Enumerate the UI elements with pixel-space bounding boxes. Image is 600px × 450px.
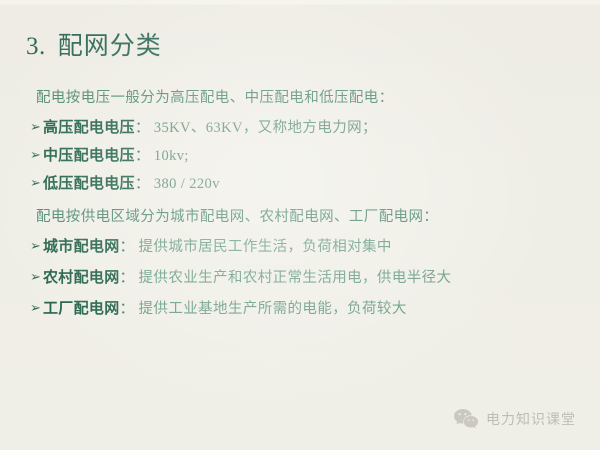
title-text: 配网分类	[58, 26, 162, 62]
bullet-colon: ：	[120, 297, 139, 318]
list-item: ➢ 中压配电电压 ： 10kv;	[30, 142, 580, 167]
bullet-colon: ：	[120, 266, 139, 287]
slide-canvas: 3. 配网分类 配电按电压一般分为高压配电、中压配电和低压配电： ➢ 高压配电电…	[0, 0, 600, 450]
arrow-bullet-icon: ➢	[30, 239, 43, 252]
bullet-label: 工厂配电网	[43, 297, 120, 318]
arrow-bullet-icon: ➢	[30, 148, 43, 161]
arrow-bullet-icon: ➢	[30, 176, 43, 189]
bullet-label: 农村配电网	[43, 266, 120, 287]
bullet-label: 城市配电网	[43, 235, 120, 256]
arrow-bullet-icon: ➢	[30, 270, 43, 283]
bullet-label: 高压配电电压	[43, 116, 135, 137]
section-by-area: 配电按供电区域分为城市配电网、农村配电网、工厂配电网： ➢ 城市配电网 ： 提供…	[30, 207, 580, 320]
list-item: ➢ 城市配电网 ： 提供城市居民工作生活，负荷相对集中	[30, 233, 580, 258]
list-item: ➢ 农村配电网 ： 提供农业生产和农村正常生活用电，供电半径大	[30, 264, 580, 289]
arrow-bullet-icon: ➢	[30, 301, 43, 314]
bullet-colon: ：	[135, 144, 154, 165]
bullet-label: 低压配电电压	[43, 172, 135, 193]
wechat-logo-icon	[453, 408, 479, 430]
section-by-voltage: 配电按电压一般分为高压配电、中压配电和低压配电： ➢ 高压配电电压 ： 35KV…	[30, 88, 580, 195]
watermark: 电力知识课堂	[453, 408, 576, 430]
bullet-value: 10kv;	[154, 148, 189, 165]
bullet-list-voltage: ➢ 高压配电电压 ： 35KV、63KV，又称地方电力网； ➢ 中压配电电压 ：…	[30, 114, 580, 195]
section-lead-text: 配电按电压一般分为高压配电、中压配电和低压配电：	[36, 88, 580, 110]
bullet-description: 提供农业生产和农村正常生活用电，供电半径大	[139, 266, 452, 287]
bullet-colon: ：	[135, 116, 154, 137]
bullet-value: 35KV、63KV，又称地方电力网；	[154, 116, 377, 137]
bullet-list-area: ➢ 城市配电网 ： 提供城市居民工作生活，负荷相对集中 ➢ 农村配电网 ： 提供…	[30, 233, 580, 320]
title-number: 3.	[26, 33, 46, 61]
watermark-text: 电力知识课堂	[486, 409, 576, 429]
bullet-description: 提供城市居民工作生活，负荷相对集中	[139, 235, 392, 256]
list-item: ➢ 高压配电电压 ： 35KV、63KV，又称地方电力网；	[30, 114, 580, 139]
slide-body: 配电按电压一般分为高压配电、中压配电和低压配电： ➢ 高压配电电压 ： 35KV…	[30, 88, 580, 326]
section-lead-text: 配电按供电区域分为城市配电网、农村配电网、工厂配电网：	[36, 207, 580, 229]
list-item: ➢ 工厂配电网 ： 提供工业基地生产所需的电能，负荷较大	[30, 295, 580, 320]
list-item: ➢ 低压配电电压 ： 380 / 220v	[30, 170, 580, 195]
bullet-value: 380 / 220v	[154, 176, 220, 193]
bullet-label: 中压配电电压	[43, 144, 135, 165]
bullet-description: 提供工业基地生产所需的电能，负荷较大	[139, 297, 407, 318]
bullet-colon: ：	[120, 235, 139, 256]
page-title: 3. 配网分类	[26, 26, 162, 62]
arrow-bullet-icon: ➢	[30, 120, 43, 133]
bullet-colon: ：	[135, 172, 154, 193]
